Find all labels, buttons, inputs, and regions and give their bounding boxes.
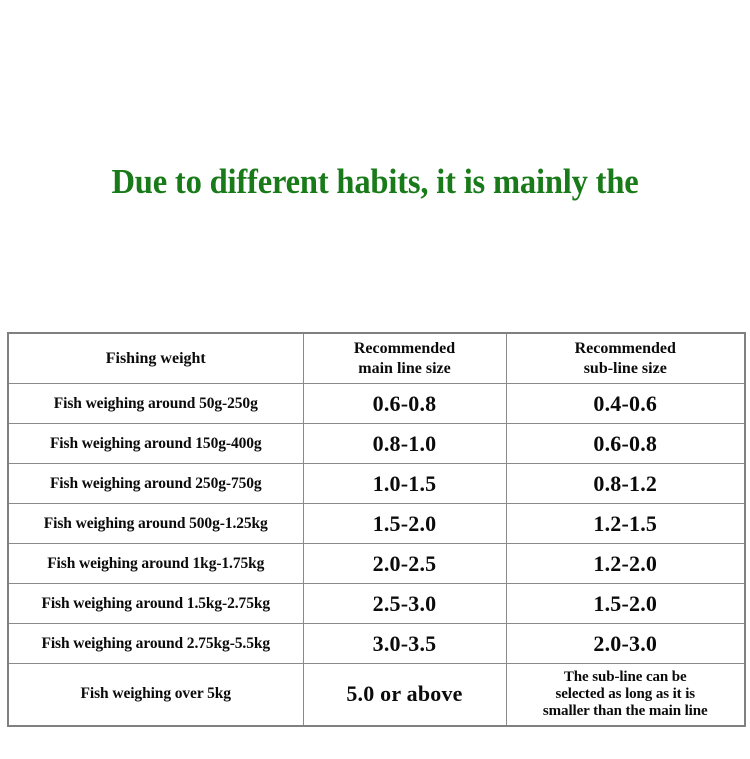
- cell-sub-line-note-line-1: The sub-line can be: [513, 669, 739, 686]
- column-header-main-line-size: Recommended main line size: [303, 333, 506, 384]
- column-header-sub-line-size-line-2: sub-line size: [511, 359, 741, 379]
- table-head: Fishing weight Recommended main line siz…: [8, 333, 745, 384]
- table-row: Fish weighing over 5kg 5.0 or above The …: [8, 664, 745, 726]
- notice-line-1: Due to different habits, it is mainly th…: [26, 154, 724, 209]
- cell-sub-line-size: 0.4-0.6: [506, 384, 745, 424]
- cell-main-line-size: 0.6-0.8: [303, 384, 506, 424]
- table-row: Fish weighing around 1kg-1.75kg 2.0-2.5 …: [8, 544, 745, 584]
- table-row: Fish weighing around 2.75kg-5.5kg 3.0-3.…: [8, 624, 745, 664]
- cell-sub-line-size: 1.2-2.0: [506, 544, 745, 584]
- cell-sub-line-note-line-2: selected as long as it is: [513, 686, 739, 703]
- cell-fishing-weight: Fish weighing around 250g-750g: [8, 464, 303, 504]
- cell-sub-line-note: The sub-line can be selected as long as …: [506, 664, 745, 726]
- table-header-row: Fishing weight Recommended main line siz…: [8, 333, 745, 384]
- cell-fishing-weight: Fish weighing around 150g-400g: [8, 424, 303, 464]
- cell-sub-line-size: 0.8-1.2: [506, 464, 745, 504]
- table-body: Fish weighing around 50g-250g 0.6-0.8 0.…: [8, 384, 745, 726]
- line-size-table: Fishing weight Recommended main line siz…: [7, 332, 746, 727]
- cell-fishing-weight: Fish weighing around 1.5kg-2.75kg: [8, 584, 303, 624]
- line-size-table-container: Fishing weight Recommended main line siz…: [7, 332, 744, 727]
- cell-fishing-weight: Fish weighing around 1kg-1.75kg: [8, 544, 303, 584]
- cell-main-line-size: 1.0-1.5: [303, 464, 506, 504]
- cell-fishing-weight: Fish weighing over 5kg: [8, 664, 303, 726]
- cell-fishing-weight: Fish weighing around 2.75kg-5.5kg: [8, 624, 303, 664]
- table-row: Fish weighing around 1.5kg-2.75kg 2.5-3.…: [8, 584, 745, 624]
- cell-sub-line-size: 0.6-0.8: [506, 424, 745, 464]
- cell-sub-line-note-line-3: smaller than the main line: [513, 703, 739, 720]
- column-header-sub-line-size-line-1: Recommended: [511, 339, 741, 359]
- cell-sub-line-size: 2.0-3.0: [506, 624, 745, 664]
- column-header-main-line-size-line-1: Recommended: [308, 339, 502, 359]
- table-row: Fish weighing around 250g-750g 1.0-1.5 0…: [8, 464, 745, 504]
- column-header-fishing-weight: Fishing weight: [8, 333, 303, 384]
- cell-main-line-size: 3.0-3.5: [303, 624, 506, 664]
- column-header-fishing-weight-line-1: Fishing weight: [13, 349, 299, 369]
- table-row: Fish weighing around 50g-250g 0.6-0.8 0.…: [8, 384, 745, 424]
- cell-fishing-weight: Fish weighing around 50g-250g: [8, 384, 303, 424]
- cell-fishing-weight: Fish weighing around 500g-1.25kg: [8, 504, 303, 544]
- cell-main-line-size: 5.0 or above: [303, 664, 506, 726]
- cell-main-line-size: 2.5-3.0: [303, 584, 506, 624]
- table-row: Fish weighing around 500g-1.25kg 1.5-2.0…: [8, 504, 745, 544]
- cell-sub-line-size: 1.2-1.5: [506, 504, 745, 544]
- cell-sub-line-size: 1.5-2.0: [506, 584, 745, 624]
- column-header-main-line-size-line-2: main line size: [308, 359, 502, 379]
- cell-main-line-size: 1.5-2.0: [303, 504, 506, 544]
- cell-main-line-size: 2.0-2.5: [303, 544, 506, 584]
- cell-main-line-size: 0.8-1.0: [303, 424, 506, 464]
- column-header-sub-line-size: Recommended sub-line size: [506, 333, 745, 384]
- table-row: Fish weighing around 150g-400g 0.8-1.0 0…: [8, 424, 745, 464]
